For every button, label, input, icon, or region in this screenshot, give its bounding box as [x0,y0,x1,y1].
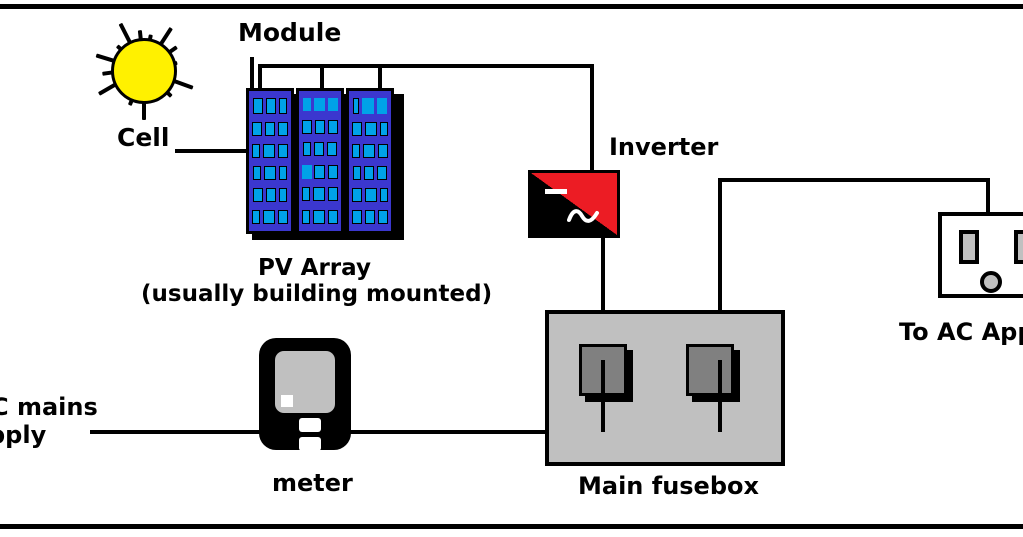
socket-slot-right [1014,230,1023,264]
inverter-label: Inverter [609,134,718,161]
cell-leader-line [175,149,257,153]
socket-slot-left [959,230,979,264]
ac-mains-label-line1: C mains [0,394,98,421]
inverter-to-fusebox-wire [601,236,605,314]
meter-label: meter [272,470,353,497]
module-label: Module [238,19,341,47]
ac-socket [938,212,1023,298]
main-fusebox [545,310,785,466]
pv-module-1 [246,88,294,234]
pv-array [246,88,404,240]
fusebox-to-socket-horizontal [718,178,990,182]
pv-module-3 [346,88,394,234]
inverter-ac-region [531,173,617,235]
inverter [528,170,620,238]
fuse-2[interactable] [686,344,734,396]
meter-button-2[interactable] [299,437,321,451]
diagram-canvas: Cell Module PV Array (usually building m… [0,0,1023,537]
electricity-meter [259,338,351,450]
inverter-dc-symbol-icon [545,189,567,194]
dc-bus-to-inverter-wire [590,64,594,174]
meter-display-indicator [281,395,293,407]
fuse-2-dropper [718,360,722,432]
pv-module-2 [296,88,344,234]
inverter-ac-sine-icon [567,209,601,225]
main-fusebox-label: Main fusebox [578,473,759,500]
cell-label: Cell [117,124,169,152]
pv-array-label-line2: (usually building mounted) [141,282,492,308]
fuse-1-dropper [601,360,605,432]
to-ac-appliances-label: To AC Appl [899,319,1023,346]
bottom-border-rule [0,524,1023,529]
meter-display [275,351,335,413]
pv-array-label-line1: PV Array [258,256,371,282]
sun-disc [111,38,177,104]
meter-button-1[interactable] [299,418,321,432]
mains-to-meter-wire [90,430,270,434]
socket-drop-wire [986,178,990,216]
dc-bus-horizontal [258,64,594,68]
ac-mains-label-line2: pply [0,422,46,449]
socket-earth-pin [980,271,1002,293]
